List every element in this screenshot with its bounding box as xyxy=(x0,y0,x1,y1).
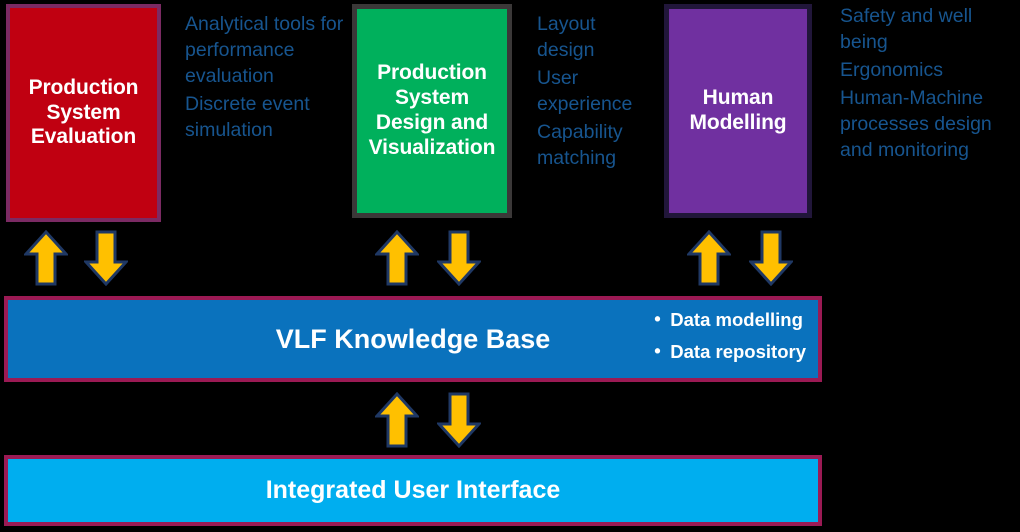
module-box-production-system-evaluation[interactable]: Production System Evaluation xyxy=(6,4,161,222)
arrow-down-icon xyxy=(437,230,481,286)
layer-integrated-user-interface[interactable]: Integrated User Interface xyxy=(4,455,822,526)
module-box-label: Production System Evaluation xyxy=(10,76,157,150)
arrow-up-icon xyxy=(375,230,419,286)
module-box-production-system-design-and-visualization[interactable]: Production System Design and Visualizati… xyxy=(352,4,512,218)
arrow-down-icon xyxy=(437,392,481,448)
list-item: Data repository xyxy=(654,343,806,362)
module-box-label: Production System Design and Visualizati… xyxy=(357,61,507,160)
feature-item: Capability matching xyxy=(537,120,657,172)
feature-item: Layout design xyxy=(537,12,657,64)
layer-vlf-knowledge-base[interactable]: VLF Knowledge Base Data modelling Data r… xyxy=(4,296,822,382)
arrow-up-icon xyxy=(375,392,419,448)
knowledge-base-bullet-list: Data modelling Data repository xyxy=(654,311,806,374)
list-item: Data modelling xyxy=(654,311,806,330)
module-box-label: Human Modelling xyxy=(669,86,807,136)
arrow-up-icon xyxy=(687,230,731,286)
feature-list-production-system-design-and-visualization: Layout design User experience Capability… xyxy=(537,12,657,174)
feature-item: Human-Machine processes design and monit… xyxy=(840,86,1018,164)
feature-list-human-modelling: Safety and well being Ergonomics Human-M… xyxy=(840,4,1018,166)
arrow-up-icon xyxy=(24,230,68,286)
feature-item: Safety and well being xyxy=(840,4,1018,56)
arrow-down-icon xyxy=(84,230,128,286)
module-box-human-modelling[interactable]: Human Modelling xyxy=(664,4,812,218)
feature-item: User experience xyxy=(537,66,657,118)
layer-title: Integrated User Interface xyxy=(8,476,818,505)
feature-item: Analytical tools for performance evaluat… xyxy=(185,12,350,90)
feature-item: Ergonomics xyxy=(840,58,1018,84)
feature-item: Discrete event simulation xyxy=(185,92,350,144)
feature-list-production-system-evaluation: Analytical tools for performance evaluat… xyxy=(185,12,350,146)
diagram-canvas: Production System Evaluation Production … xyxy=(0,0,1020,532)
arrow-down-icon xyxy=(749,230,793,286)
